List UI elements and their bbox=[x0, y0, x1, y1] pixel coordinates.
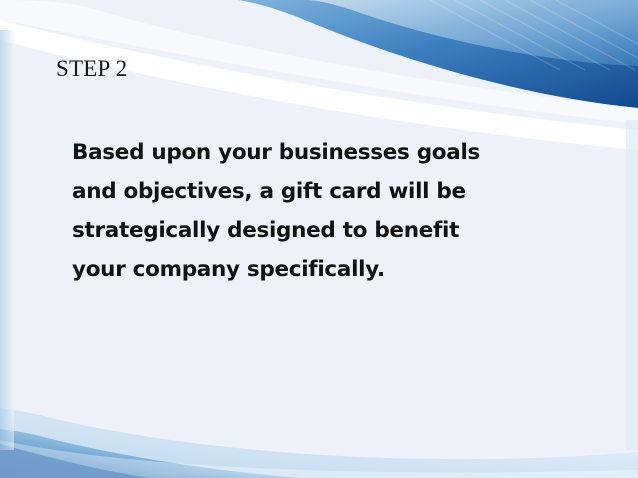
body-line-1: Based upon your businesses goals bbox=[72, 133, 542, 172]
body-line-4: your company specifically. bbox=[72, 250, 542, 289]
slide-body-text: Based upon your businesses goals and obj… bbox=[72, 133, 542, 289]
body-line-3: strategically designed to benefit bbox=[72, 211, 542, 250]
body-line-2: and objectives, a gift card will be bbox=[72, 172, 542, 211]
slide-title: STEP 2 bbox=[56, 56, 127, 82]
slide-canvas: STEP 2 Based upon your businesses goals … bbox=[0, 0, 638, 478]
slide-content: STEP 2 Based upon your businesses goals … bbox=[0, 0, 638, 478]
